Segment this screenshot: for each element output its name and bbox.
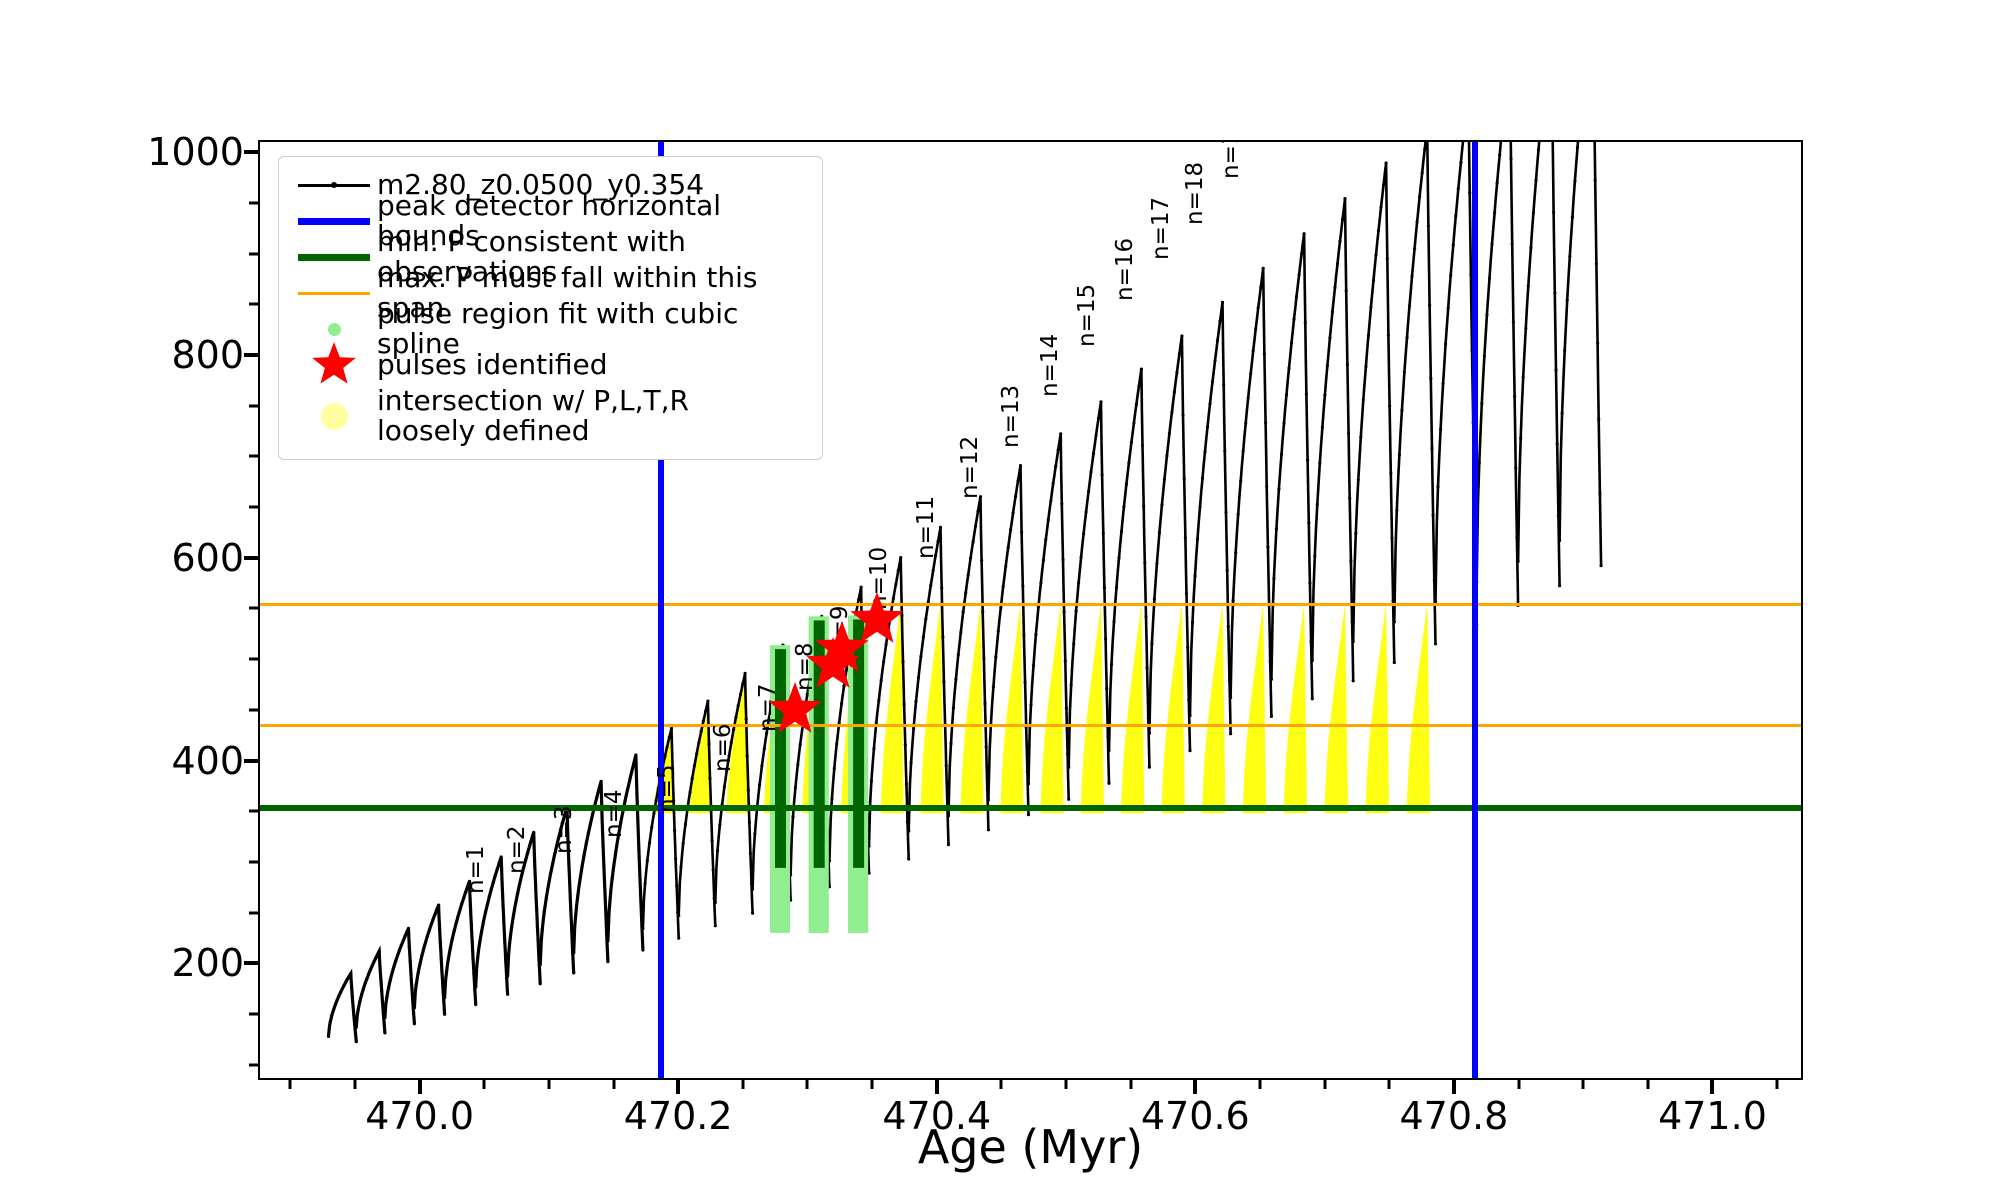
peak-detector-bound-line (1472, 142, 1478, 1078)
y-tick-label: 1000 (24, 130, 244, 174)
y-tick-mark (244, 759, 258, 763)
y-tick-label: 200 (24, 941, 244, 985)
legend-big-dot-icon (291, 399, 377, 433)
x-tick-label: 470.8 (1334, 1094, 1574, 1138)
x-tick-minor (871, 1080, 874, 1089)
y-tick-minor (249, 1013, 258, 1016)
y-tick-minor (249, 810, 258, 813)
y-tick-mark (244, 353, 258, 357)
x-tick-mark (1452, 1080, 1456, 1094)
pulse-number-label: n=5 (654, 765, 680, 813)
pulse-number-label: n=13 (998, 385, 1024, 448)
x-tick-minor (1323, 1080, 1326, 1089)
legend-thin-line-icon (291, 276, 377, 310)
x-tick-minor (806, 1080, 809, 1089)
x-tick-label: 471.0 (1592, 1094, 1832, 1138)
y-tick-minor (249, 455, 258, 458)
legend-thick-line-icon (291, 240, 377, 274)
y-tick-minor (249, 708, 258, 711)
pulse-number-label: n=1 (463, 846, 489, 894)
y-tick-mark (244, 150, 258, 154)
y-tick-minor (249, 607, 258, 610)
x-tick-minor (353, 1080, 356, 1089)
x-tick-mark (935, 1080, 939, 1094)
min-period-observations-line (260, 805, 1801, 811)
pulse-number-label: n=18 (1182, 162, 1208, 225)
x-tick-minor (1776, 1080, 1779, 1089)
legend-line-marker-icon (291, 168, 377, 202)
x-tick-minor (1582, 1080, 1585, 1089)
y-tick-minor (249, 252, 258, 255)
pulse-number-label: n=2 (504, 825, 530, 873)
pulse-number-label: n=19 (1218, 140, 1244, 179)
legend[interactable]: m2.80_z0.0500_y0.354peak detector horizo… (278, 156, 823, 460)
y-tick-minor (249, 1063, 258, 1066)
pulse-number-label: n=3 (551, 805, 577, 853)
x-tick-minor (547, 1080, 550, 1089)
legend-item-label: pulses identified (377, 350, 608, 380)
y-tick-label: 800 (24, 333, 244, 377)
pulse-number-label: n=6 (710, 724, 736, 772)
y-tick-minor (249, 506, 258, 509)
x-tick-minor (1517, 1080, 1520, 1089)
pulse-number-label: n=11 (913, 496, 939, 559)
pulse-number-label: n=15 (1074, 283, 1100, 346)
x-tick-mark (418, 1080, 422, 1094)
x-tick-mark (676, 1080, 680, 1094)
x-tick-minor (1646, 1080, 1649, 1089)
y-tick-label: 600 (24, 536, 244, 580)
y-tick-mark (244, 961, 258, 965)
legend-small-dot-icon (291, 312, 377, 346)
max-period-span-line (260, 724, 1801, 727)
x-tick-minor (1065, 1080, 1068, 1089)
pulse-identified-star (849, 592, 905, 648)
legend-star-icon (291, 348, 377, 382)
y-tick-minor (249, 303, 258, 306)
y-tick-minor (249, 404, 258, 407)
figure-canvas: FM period (days) Age (Myr) 2004006008001… (0, 0, 2000, 1200)
y-tick-label: 400 (24, 739, 244, 783)
legend-item[interactable]: pulse region fit with cubic spline (291, 311, 806, 347)
plot-area: n=1n=2n=3n=4n=5n=6n=7n=8n=9n=10n=11n=12n… (258, 140, 1803, 1080)
pulse-number-label: n=17 (1148, 197, 1174, 260)
legend-item-label: intersection w/ P,L,T,R loosely defined (377, 386, 689, 446)
pulse-number-label: n=12 (957, 436, 983, 499)
x-tick-mark (1193, 1080, 1197, 1094)
max-period-span-line (260, 603, 1801, 606)
pulse-number-label: n=16 (1112, 238, 1138, 301)
x-tick-minor (1388, 1080, 1391, 1089)
y-tick-minor (249, 201, 258, 204)
x-tick-label: 470.6 (1075, 1094, 1315, 1138)
x-tick-mark (1710, 1080, 1714, 1094)
x-tick-minor (483, 1080, 486, 1089)
y-tick-minor (249, 911, 258, 914)
x-tick-minor (612, 1080, 615, 1089)
x-tick-minor (1258, 1080, 1261, 1089)
x-tick-minor (741, 1080, 744, 1089)
x-tick-label: 470.0 (300, 1094, 540, 1138)
x-tick-label: 470.4 (817, 1094, 1057, 1138)
pulse-number-label: n=14 (1037, 334, 1063, 397)
x-tick-minor (1000, 1080, 1003, 1089)
legend-item[interactable]: intersection w/ P,L,T,R loosely defined (291, 383, 806, 449)
x-tick-minor (1129, 1080, 1132, 1089)
x-tick-label: 470.2 (558, 1094, 798, 1138)
y-tick-minor (249, 860, 258, 863)
y-tick-mark (244, 556, 258, 560)
y-tick-minor (249, 658, 258, 661)
legend-thick-line-icon (291, 204, 377, 238)
pulse-number-label: n=4 (601, 790, 627, 838)
x-tick-minor (289, 1080, 292, 1089)
